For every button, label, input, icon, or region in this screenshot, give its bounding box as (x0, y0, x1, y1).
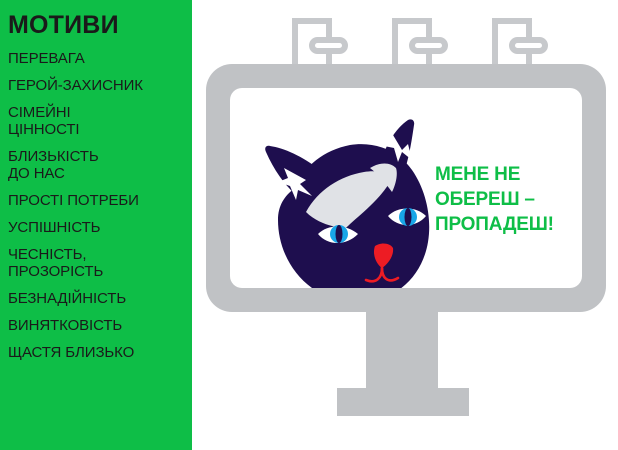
lamp-bulb-icon (309, 37, 348, 54)
billboard-slogan: МЕНЕ НЕ ОБЕРЕШ – ПРОПАДЕШ! (435, 162, 582, 237)
billboard-frame: МЕНЕ НЕ ОБЕРЕШ – ПРОПАДЕШ! (206, 64, 606, 312)
poster-canvas: МОТИВИ ПЕРЕВАГА ГЕРОЙ-ЗАХИСНИК СІМЕЙНІ Ц… (0, 0, 618, 450)
billboard-lamp-icon (392, 18, 448, 70)
list-item: УСПІШНІСТЬ (8, 219, 192, 236)
lamp-bulb-icon (409, 37, 448, 54)
list-item: СІМЕЙНІ ЦІННОСТІ (8, 104, 192, 138)
list-item: БЛИЗЬКІСТЬ ДО НАС (8, 148, 192, 182)
list-item: ЧЕСНІСТЬ, ПРОЗОРІСТЬ (8, 246, 192, 280)
lamp-bulb-icon (509, 37, 548, 54)
list-item: ЩАСТЯ БЛИЗЬКО (8, 344, 192, 361)
list-item: ПРОСТІ ПОТРЕБИ (8, 192, 192, 209)
cat-head-icon (262, 118, 447, 288)
list-item: ПЕРЕВАГА (8, 50, 192, 67)
motives-sidebar: МОТИВИ ПЕРЕВАГА ГЕРОЙ-ЗАХИСНИК СІМЕЙНІ Ц… (0, 0, 192, 450)
billboard-base (337, 388, 469, 416)
list-item: ГЕРОЙ-ЗАХИСНИК (8, 77, 192, 94)
billboard-lamp-icon (292, 18, 348, 70)
list-item: ВИНЯТКОВІСТЬ (8, 317, 192, 334)
billboard-face: МЕНЕ НЕ ОБЕРЕШ – ПРОПАДЕШ! (230, 88, 582, 288)
billboard-lamp-icon (492, 18, 548, 70)
list-item: БЕЗНАДІЙНІСТЬ (8, 290, 192, 307)
billboard-illustration: МЕНЕ НЕ ОБЕРЕШ – ПРОПАДЕШ! (192, 0, 618, 450)
page-title: МОТИВИ (8, 10, 192, 40)
